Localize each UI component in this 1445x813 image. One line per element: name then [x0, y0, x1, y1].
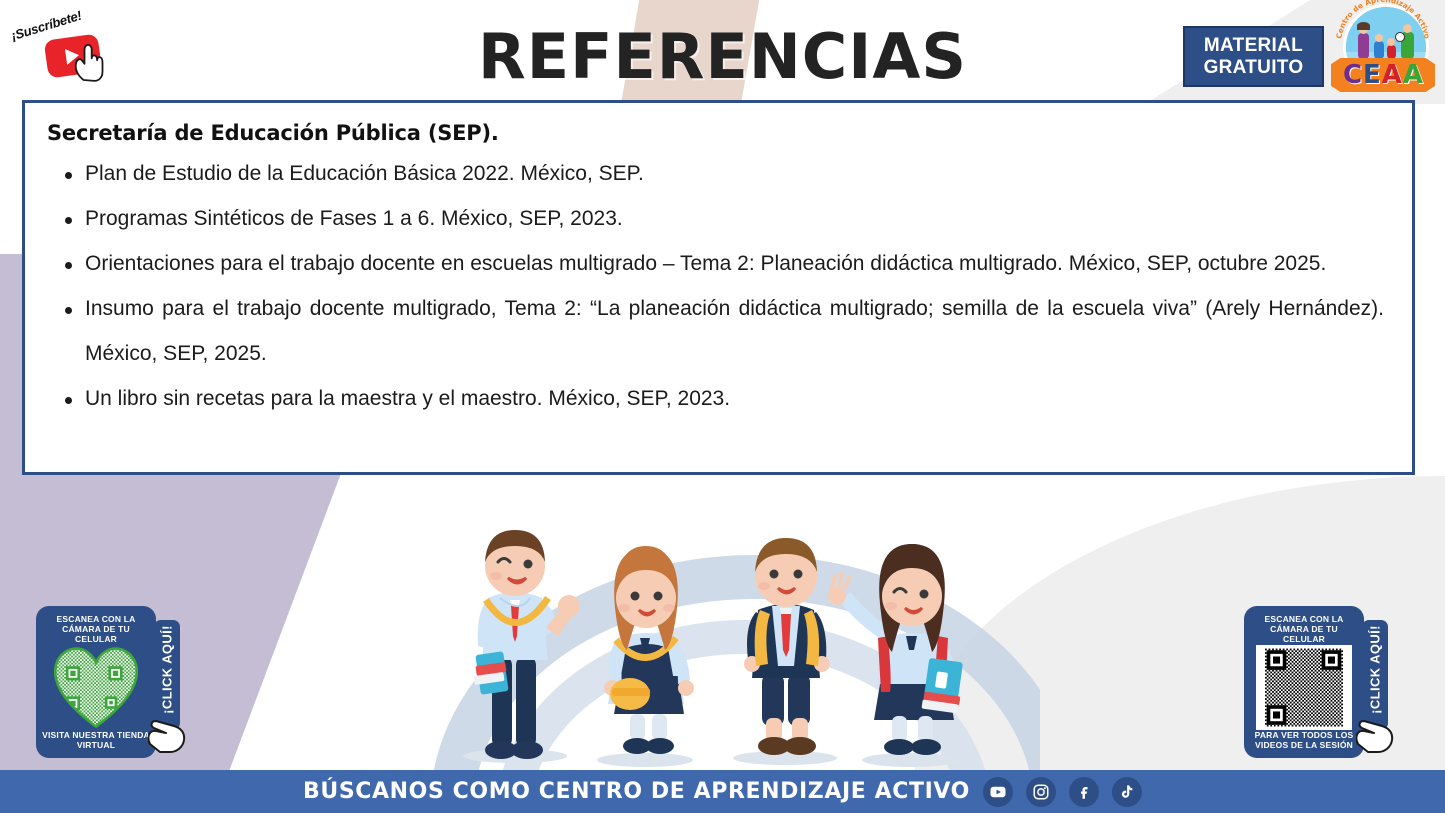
qr-top-caption-right: ESCANEA CON LA CÁMARA DE TU CELULAR: [1249, 614, 1359, 645]
material-gratuito-badge: MATERIAL GRATUITO: [1183, 26, 1324, 87]
material-badge-line1: MATERIAL: [1204, 35, 1303, 56]
footer-bar: BÚSCANOS COMO CENTRO DE APRENDIZAJE ACTI…: [0, 770, 1445, 813]
qr-top-caption-left: ESCANEA CON LA CÁMARA DE TU CELULAR: [41, 614, 151, 645]
qr-card-left[interactable]: ESCANEA CON LA CÁMARA DE TU CELULAR: [36, 606, 156, 758]
references-box: Secretaría de Educación Pública (SEP). P…: [22, 100, 1415, 475]
qr-badge-store[interactable]: ¡CLICK AQUÍ! ESCANEA CON LA CÁMARA DE TU…: [36, 606, 184, 758]
click-tab-left[interactable]: ¡CLICK AQUÍ!: [154, 620, 180, 730]
svg-text:Centro de Aprendizaje Activo: Centro de Aprendizaje Activo: [1334, 0, 1431, 39]
qr-card-right[interactable]: ESCANEA CON LA CÁMARA DE TU CELULAR: [1244, 606, 1364, 758]
ceaa-ribbon: CEAA: [1331, 58, 1435, 92]
qr-code-square-icon: [1256, 645, 1352, 730]
students-illustration: [440, 488, 1010, 773]
qr-code-heart-icon: [48, 645, 144, 730]
qr-badge-videos[interactable]: ¡CLICK AQUÍ! ESCANEA CON LA CÁMARA DE TU…: [1244, 606, 1392, 758]
click-tab-right[interactable]: ¡CLICK AQUÍ!: [1362, 620, 1388, 730]
material-badge-line2: GRATUITO: [1204, 57, 1304, 78]
qr-bottom-caption-right: PARA VER TODOS LOS VIDEOS DE LA SESIÓN: [1255, 730, 1354, 750]
list-item: Un libro sin recetas para la maestra y e…: [85, 376, 1390, 421]
pointing-hand-icon: [148, 718, 188, 756]
tiktok-icon[interactable]: [1112, 777, 1142, 807]
list-item: Orientaciones para el trabajo docente en…: [85, 241, 1390, 286]
slide-canvas: ¡Suscríbete! REFERENCIAS MATERIAL GRATUI…: [0, 0, 1445, 813]
ceaa-arc-text: Centro de Aprendizaje Activo: [1331, 0, 1435, 60]
list-item: Plan de Estudio de la Educación Básica 2…: [85, 151, 1390, 196]
facebook-icon[interactable]: [1069, 777, 1099, 807]
pointing-hand-icon: [1356, 718, 1396, 756]
list-item: Programas Sintéticos de Fases 1 a 6. Méx…: [85, 196, 1390, 241]
footer-label: BÚSCANOS COMO CENTRO DE APRENDIZAJE ACTI…: [303, 779, 970, 804]
list-item: Insumo para el trabajo docente multigrad…: [85, 286, 1390, 376]
references-list: Plan de Estudio de la Educación Básica 2…: [47, 151, 1390, 421]
instagram-icon[interactable]: [1026, 777, 1056, 807]
click-label-left: ¡CLICK AQUÍ!: [160, 615, 175, 725]
youtube-icon[interactable]: [983, 777, 1013, 807]
click-label-right: ¡CLICK AQUÍ!: [1368, 615, 1383, 725]
qr-bottom-caption-left: VISITA NUESTRA TIENDA VIRTUAL: [42, 730, 150, 750]
references-heading: Secretaría de Educación Pública (SEP).: [47, 121, 1390, 145]
ceaa-logo: Centro de Aprendizaje Activo CEAA: [1331, 2, 1435, 100]
